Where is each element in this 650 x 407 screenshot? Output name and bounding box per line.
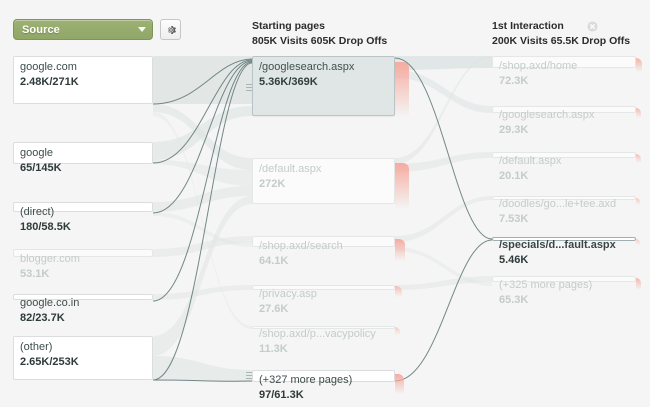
dimension-select-label: Source [22,24,134,36]
node-bar [492,196,636,200]
flow-node[interactable]: google.co.in 82/23.7K [13,294,153,300]
node-bar [492,56,636,68]
chevron-down-icon [138,27,146,32]
flow-node[interactable]: /shop.axd/search 64.1K [252,236,395,247]
flow-node[interactable]: /googlesearch.aspx 29.3K [492,106,636,113]
node-bar [492,237,636,241]
dropoff-indicator [395,239,405,261]
node-bar [13,249,153,257]
gear-icon [165,24,177,36]
dropoff-indicator [636,198,640,205]
node-bar [492,106,636,113]
column-title: Starting pages [252,20,387,33]
flow-node[interactable]: /default.aspx 272K [252,158,395,204]
column-subtitle: 805K Visits 605K Drop Offs [252,35,387,48]
dropoff-indicator [636,108,641,118]
node-bar [492,152,636,158]
dropoff-indicator [395,62,409,117]
column-title: 1st Interaction [492,20,630,33]
flow-node[interactable]: google 65/145K [13,142,153,164]
node-drag-handle[interactable] [246,372,252,381]
flow-node[interactable]: /doodles/go...le+tee.axd 7.53K [492,196,636,200]
node-bar [252,285,395,290]
node-bar [13,56,153,104]
flow-node[interactable]: (other) 2.65K/253K [13,336,153,380]
toolbar: Source [13,19,181,40]
dropoff-indicator [395,163,409,209]
node-bar [252,370,395,382]
flow-node[interactable]: blogger.com 53.1K [13,249,153,257]
column-header-starting-pages: Starting pages 805K Visits 605K Drop Off… [252,20,387,48]
flow-node[interactable]: (+327 more pages) 97/61.3K [252,370,395,382]
dropoff-indicator [636,278,641,290]
node-bar [252,326,395,329]
column-header-first-interaction: 1st Interaction 200K Visits 65.5K Drop O… [492,20,630,48]
flow-node[interactable]: google.com 2.48K/271K [13,56,153,104]
node-bar [13,336,153,380]
flow-node[interactable]: /shop.axd/home 72.3K [492,56,636,68]
flow-node[interactable]: (+325 more pages) 65.3K [492,276,636,282]
node-bar [252,158,395,204]
dropoff-indicator [395,374,404,394]
node-drag-handle[interactable] [246,84,252,93]
flow-node[interactable]: (direct) 180/58.5K [13,202,153,212]
dropoff-indicator [395,286,402,297]
close-circle-icon[interactable] [587,21,598,32]
flow-group-sources-to-start [153,56,252,382]
dimension-select[interactable]: Source [13,19,153,40]
node-bar [13,142,153,164]
node-bar [252,56,395,116]
dropoff-indicator [636,58,642,72]
node-bar [13,202,153,212]
node-bar [492,276,636,282]
flow-group-start-to-interaction [395,56,492,290]
dropoff-indicator [636,239,640,245]
flow-node[interactable]: /specials/d...fault.aspx 5.46K [492,237,636,241]
flow-node[interactable]: /default.aspx 20.1K [492,152,636,158]
visitors-flow-app: Source Starting pages 805K Visits 605K D… [0,0,650,407]
node-bar [13,294,153,300]
node-bar [252,236,395,247]
flow-node[interactable]: /googlesearch.aspx 5.36K/369K [252,56,395,116]
flow-node[interactable]: /privacy.asp 27.6K [252,285,395,290]
settings-button[interactable] [160,19,181,40]
column-subtitle: 200K Visits 65.5K Drop Offs [492,35,630,48]
flow-node[interactable]: /shop.axd/p...vacypolicy 11.3K [252,326,395,329]
